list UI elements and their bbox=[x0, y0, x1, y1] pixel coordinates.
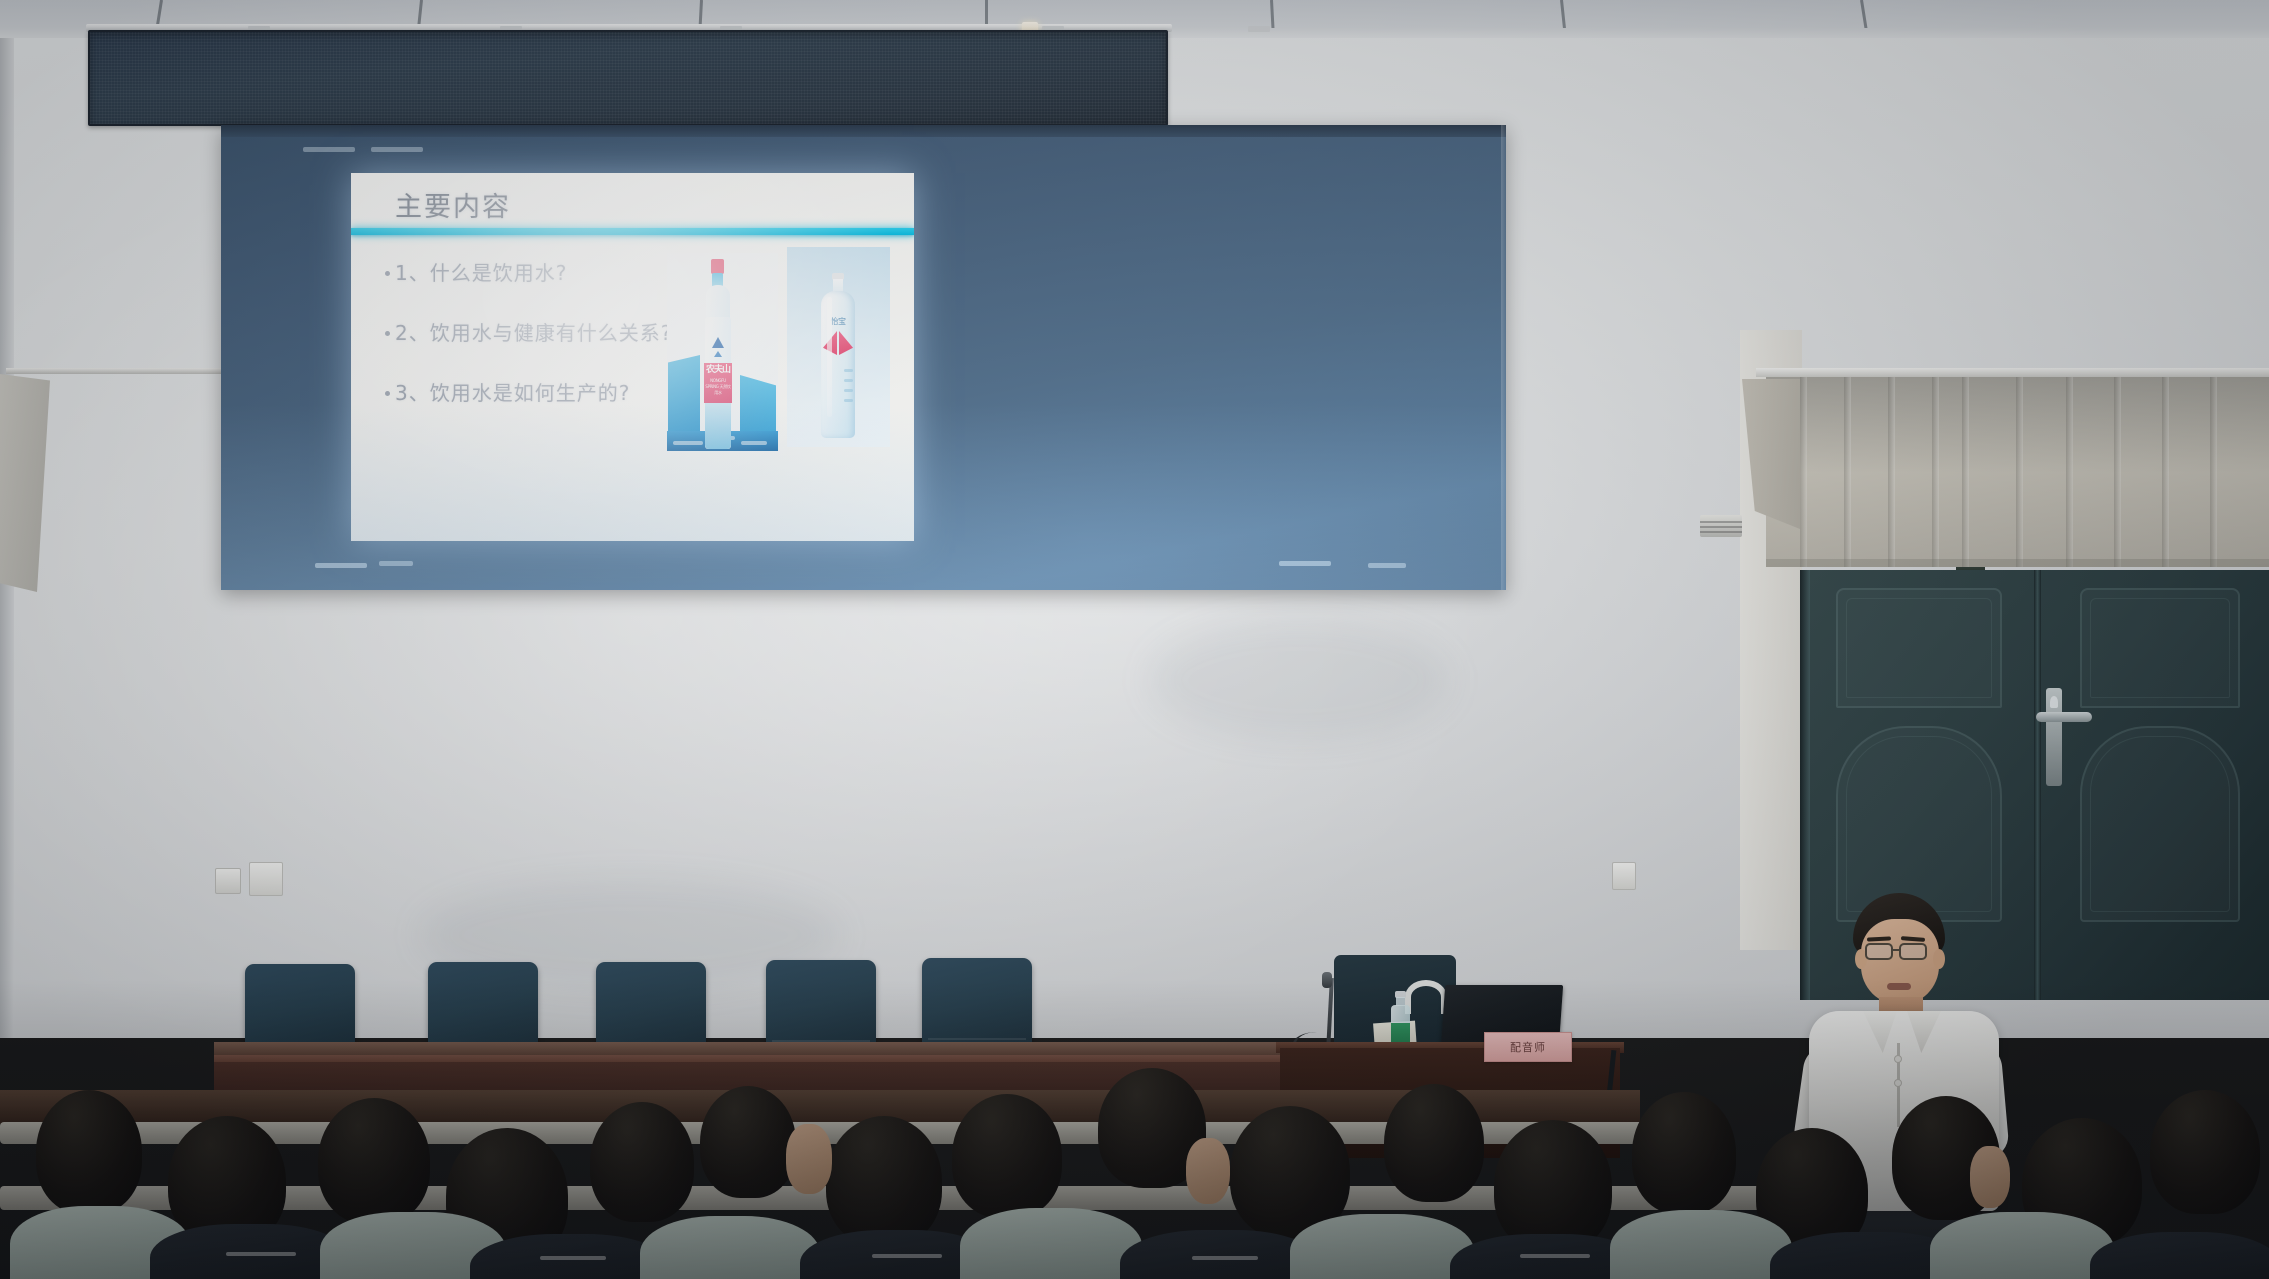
name-card: 配音师 bbox=[1484, 1032, 1572, 1062]
eyeglasses-icon bbox=[1899, 943, 1927, 960]
audience-head bbox=[826, 1116, 942, 1246]
audience-shoulders bbox=[1290, 1214, 1474, 1279]
screen-notch bbox=[1279, 561, 1331, 566]
mountain-water-graphic bbox=[740, 375, 776, 449]
bullet-dot-icon bbox=[385, 271, 390, 276]
stage-chair[interactable] bbox=[245, 964, 355, 1052]
mountain-water-graphic bbox=[668, 355, 700, 449]
classroom-scene: 主要内容 1、什么是饮用水? 2、饮用水与健康有什么关系? 3、饮用水是如何生产… bbox=[0, 0, 2269, 1279]
water-wave bbox=[713, 436, 735, 440]
water-surface-graphic bbox=[667, 431, 778, 451]
presenter-face bbox=[1861, 919, 1939, 1005]
projection-screen[interactable]: 主要内容 1、什么是饮用水? 2、饮用水与健康有什么关系? 3、饮用水是如何生产… bbox=[221, 125, 1506, 590]
uniform-stripe bbox=[872, 1254, 942, 1258]
screen-notch bbox=[315, 563, 367, 568]
water-bottle-graphic: 农夫山 NONGFU SPRING 天然饮用水 bbox=[703, 259, 733, 449]
water-bottle-graphic: 怡宝 bbox=[819, 273, 857, 438]
audience-head bbox=[700, 1086, 796, 1198]
audience-head bbox=[2150, 1090, 2260, 1214]
screen-notch bbox=[1368, 563, 1406, 568]
screen-right-highlight bbox=[1501, 125, 1506, 590]
audience-shoulders bbox=[960, 1208, 1142, 1279]
wall-socket[interactable] bbox=[1612, 862, 1636, 890]
audience-shoulders bbox=[1610, 1210, 1792, 1279]
microphone-head bbox=[1322, 972, 1332, 988]
list-item: 3、饮用水是如何生产的? bbox=[385, 377, 715, 406]
screen-top-bar bbox=[221, 125, 1506, 137]
uniform-stripe bbox=[1192, 1256, 1258, 1260]
clear-water-bottle-photo: 怡宝 bbox=[787, 247, 890, 447]
slide-bullet-list: 1、什么是饮用水? 2、饮用水与健康有什么关系? 3、饮用水是如何生产的? bbox=[385, 257, 715, 437]
bottle-neck bbox=[712, 273, 723, 287]
audience-head bbox=[1632, 1092, 1736, 1214]
projector-glow bbox=[351, 173, 914, 541]
bottle-label: 农夫山 NONGFU SPRING 天然饮用水 bbox=[704, 363, 732, 403]
door-panel-arched bbox=[2080, 726, 2240, 922]
bottle-shoulder bbox=[706, 285, 730, 321]
slide[interactable]: 主要内容 1、什么是饮用水? 2、饮用水与健康有什么关系? 3、饮用水是如何生产… bbox=[351, 173, 914, 541]
uniform-stripe bbox=[540, 1256, 606, 1260]
bottle-cap bbox=[832, 273, 844, 280]
audience-face bbox=[786, 1124, 832, 1194]
bottle-cap bbox=[711, 259, 724, 274]
stage-chair[interactable] bbox=[428, 962, 538, 1050]
shirt-button bbox=[1894, 1055, 1902, 1063]
bottle-body bbox=[821, 291, 855, 438]
mountain-logo-icon bbox=[714, 351, 722, 357]
door-center-seam bbox=[2034, 570, 2041, 1000]
door-panel bbox=[1836, 588, 2002, 708]
bottle-brand-text: 农夫山 bbox=[704, 366, 732, 375]
audience-shoulders bbox=[1930, 1212, 2114, 1279]
screen-notch bbox=[303, 147, 355, 152]
bottle-rib bbox=[844, 369, 853, 372]
eyeglasses-bridge bbox=[1891, 949, 1901, 951]
screen-notch bbox=[371, 147, 423, 152]
water-wave bbox=[673, 441, 703, 445]
bottle-water bbox=[705, 403, 731, 449]
stage-chair[interactable] bbox=[596, 962, 706, 1050]
bullet-dot-icon bbox=[385, 331, 390, 336]
wall-smudge bbox=[1150, 620, 1450, 740]
stage-chair[interactable] bbox=[766, 960, 876, 1048]
list-item: 2、饮用水与健康有什么关系? bbox=[385, 317, 715, 346]
audience-shoulders bbox=[2090, 1232, 2269, 1279]
bottle-neck bbox=[833, 279, 843, 293]
stage-chair[interactable] bbox=[922, 958, 1032, 1046]
eyeglasses-icon bbox=[1865, 943, 1893, 960]
shirt-button bbox=[1894, 1079, 1902, 1087]
door-handle[interactable] bbox=[2036, 712, 2092, 722]
door-panel bbox=[2080, 588, 2240, 708]
nongfu-spring-bottle-photo: 农夫山 NONGFU SPRING 天然饮用水 bbox=[667, 253, 778, 451]
bullet-text: 1、什么是饮用水? bbox=[395, 257, 567, 286]
bottle-body bbox=[705, 317, 731, 449]
list-item: 1、什么是饮用水? bbox=[385, 257, 715, 286]
bottle-label-wing bbox=[823, 331, 837, 355]
audience-head bbox=[318, 1098, 430, 1224]
audience-face bbox=[1186, 1138, 1230, 1204]
curtain-hem bbox=[1766, 559, 2269, 567]
wall-switch-plate[interactable] bbox=[249, 862, 283, 896]
bullet-text: 2、饮用水与健康有什么关系? bbox=[395, 317, 672, 346]
bottle-brand-subtext: NONGFU SPRING 天然饮用水 bbox=[704, 378, 732, 396]
wall-vent bbox=[1700, 515, 1742, 537]
audience-head bbox=[1384, 1084, 1484, 1202]
bottle-rib bbox=[844, 399, 853, 402]
audience-shoulders bbox=[640, 1216, 820, 1279]
screen-notch bbox=[379, 561, 413, 566]
bottle-brand-text: 怡宝 bbox=[819, 316, 857, 327]
bullet-dot-icon bbox=[385, 391, 390, 396]
mug-handle bbox=[1405, 980, 1447, 1014]
presenter-ear bbox=[1933, 949, 1945, 969]
bullet-text: 3、饮用水是如何生产的? bbox=[395, 377, 630, 406]
audience-head bbox=[952, 1094, 1062, 1218]
bottle-rib bbox=[844, 389, 853, 392]
audience-head bbox=[36, 1090, 142, 1214]
wall-socket[interactable] bbox=[215, 868, 241, 894]
banner-clip bbox=[1248, 26, 1270, 32]
door-keyhole bbox=[2050, 696, 2058, 708]
slide-title: 主要内容 bbox=[395, 185, 511, 224]
presenter-mouth bbox=[1887, 983, 1911, 990]
audience-head bbox=[590, 1102, 694, 1222]
audience-face bbox=[1970, 1146, 2010, 1208]
bottle-highlight bbox=[827, 297, 832, 417]
curtain-rod bbox=[1756, 368, 2269, 377]
audience-head bbox=[1494, 1120, 1612, 1252]
bottle-label-wing bbox=[839, 331, 853, 355]
mountain-logo-icon bbox=[712, 337, 724, 348]
uniform-stripe bbox=[1520, 1254, 1590, 1258]
uniform-stripe bbox=[226, 1252, 296, 1256]
window-curtain[interactable] bbox=[1766, 377, 2269, 567]
led-banner-panel bbox=[88, 30, 1168, 126]
slide-divider bbox=[351, 228, 914, 235]
led-pixel-grid bbox=[90, 32, 1166, 124]
bottle-rib bbox=[844, 379, 853, 382]
water-wave bbox=[741, 441, 767, 445]
